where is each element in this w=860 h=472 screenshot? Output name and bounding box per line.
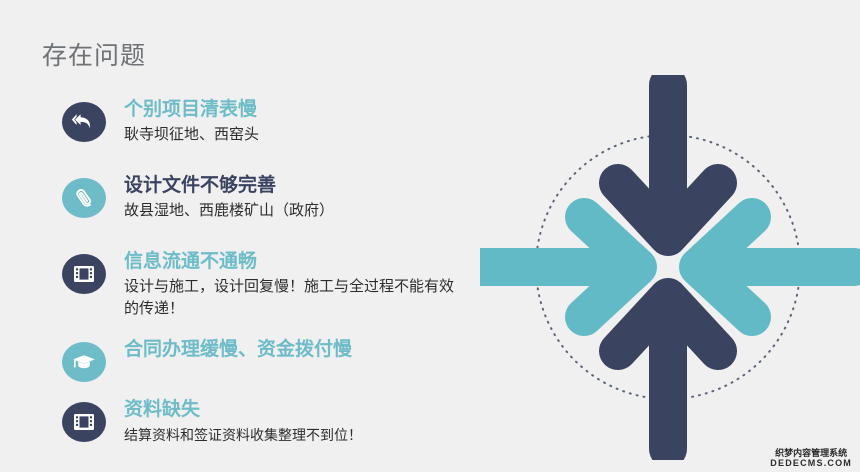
list-item[interactable]: 个别项目清表慢 耿寺坝征地、西窑头 — [62, 98, 259, 146]
list-item-title: 资料缺失 — [124, 398, 362, 422]
list-item[interactable]: 设计文件不够完善 故县湿地、西鹿楼矿山（政府） — [62, 174, 334, 222]
watermark: 织梦内容管理系统 DEDECMS.COM — [770, 449, 852, 468]
arrow-up — [618, 297, 718, 449]
arrow-right — [482, 217, 638, 317]
graduation-cap-icon — [62, 342, 106, 382]
arrow-left — [698, 217, 854, 317]
list-item-title: 个别项目清表慢 — [124, 98, 259, 122]
list-item-title: 设计文件不够完善 — [124, 174, 334, 198]
converging-arrows-diagram — [480, 75, 860, 460]
list-item[interactable]: 合同办理缓慢、资金拨付慢 — [62, 338, 352, 382]
list-item[interactable]: 信息流通不通畅 设计与施工，设计回复慢！施工与全过程不能有效的传递！ — [62, 250, 464, 320]
list-item-subtitle: 设计与施工，设计回复慢！施工与全过程不能有效的传递！ — [124, 276, 464, 320]
reply-arrow-icon — [62, 102, 106, 142]
list-item-text: 个别项目清表慢 耿寺坝征地、西窑头 — [124, 98, 259, 146]
list-item-text: 资料缺失 结算资料和签证资料收集整理不到位！ — [124, 398, 362, 446]
list-item-title: 合同办理缓慢、资金拨付慢 — [124, 338, 352, 362]
list-item-subtitle: 结算资料和签证资料收集整理不到位！ — [124, 424, 362, 446]
list-item-title: 信息流通不通畅 — [124, 250, 464, 274]
film-strip-icon — [62, 402, 106, 442]
watermark-en: DEDECMS.COM — [770, 459, 852, 468]
slide: 存在问题 个别项目清表慢 耿寺坝征地、西窑头 — [0, 0, 860, 472]
list-item[interactable]: 资料缺失 结算资料和签证资料收集整理不到位！ — [62, 398, 362, 446]
film-strip-icon — [62, 254, 106, 294]
paperclip-icon — [62, 178, 106, 218]
page-title: 存在问题 — [42, 36, 146, 72]
list-item-subtitle: 故县湿地、西鹿楼矿山（政府） — [124, 200, 334, 222]
list-item-subtitle: 耿寺坝征地、西窑头 — [124, 124, 259, 146]
list-item-text: 合同办理缓慢、资金拨付慢 — [124, 338, 352, 364]
list-item-text: 设计文件不够完善 故县湿地、西鹿楼矿山（政府） — [124, 174, 334, 222]
list-item-text: 信息流通不通畅 设计与施工，设计回复慢！施工与全过程不能有效的传递！ — [124, 250, 464, 320]
arrow-down — [618, 85, 718, 237]
